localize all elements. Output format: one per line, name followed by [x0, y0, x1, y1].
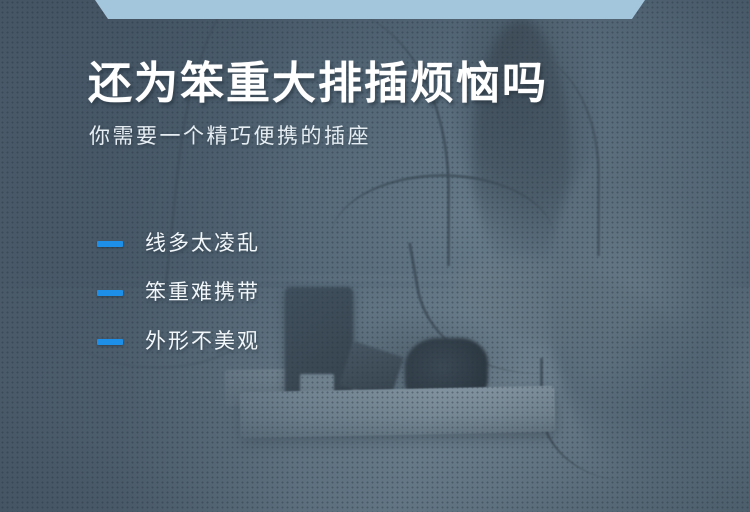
list-item-label: 笨重难携带 — [145, 282, 260, 303]
list-item: 线多太凌乱 — [97, 233, 260, 254]
list-item-label: 线多太凌乱 — [145, 233, 260, 254]
list-item: 笨重难携带 — [97, 282, 260, 303]
headline-subtitle: 你需要一个精巧便携的插座 — [89, 126, 371, 147]
pain-point-list: 线多太凌乱 笨重难携带 外形不美观 — [97, 233, 260, 352]
dash-marker-icon — [97, 290, 123, 296]
banner-content: 还为笨重大排插烦恼吗 你需要一个精巧便携的插座 线多太凌乱 笨重难携带 外形不美… — [0, 0, 750, 512]
headline-title: 还为笨重大排插烦恼吗 — [88, 62, 548, 106]
list-item-label: 外形不美观 — [145, 331, 260, 352]
dash-marker-icon — [97, 241, 123, 247]
list-item: 外形不美观 — [97, 331, 260, 352]
dash-marker-icon — [97, 339, 123, 345]
promo-banner: 还为笨重大排插烦恼吗 你需要一个精巧便携的插座 线多太凌乱 笨重难携带 外形不美… — [0, 0, 750, 512]
